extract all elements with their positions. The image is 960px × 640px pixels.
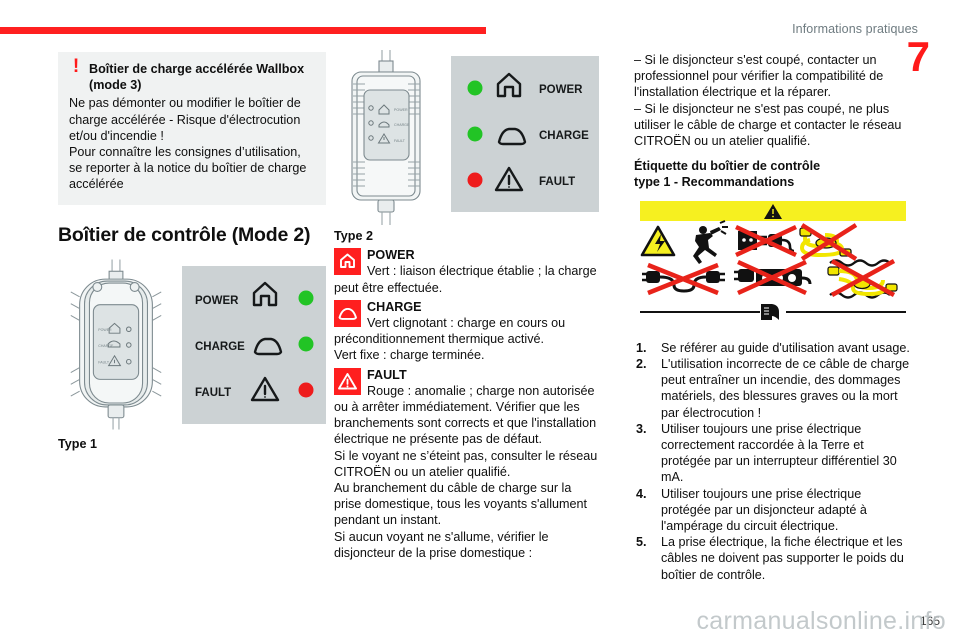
warning-title-line2: (mode 3): [89, 78, 141, 92]
figure-caption-type2: Type 2: [334, 228, 602, 244]
device-led-label-power: POWER: [394, 108, 408, 112]
figure-type1: POWER CHARGE FAULT POWER CHARGE FAULT: [58, 256, 326, 432]
device-led-label-fault: FAULT: [394, 139, 406, 143]
legend-label-fault: FAULT: [195, 387, 231, 399]
exclamation-icon: !: [69, 60, 83, 74]
led-item-power: POWER Vert : liaison électrique établie …: [334, 247, 602, 296]
device-led-label-charge: CHARGE: [98, 344, 114, 348]
led-dot-power: [299, 290, 314, 305]
led-item-title: POWER: [367, 248, 415, 262]
subheading-line2: type 1 - Recommandations: [634, 175, 794, 189]
column-middle: POWER CHARGE FAULT POWER CHARG: [334, 52, 602, 561]
led-dot-charge: [299, 336, 314, 351]
led-dot-power: [468, 81, 483, 96]
led-item-text: Vert clignotant : charge en cours ou pré…: [334, 316, 565, 362]
led-dot-fault: [468, 173, 483, 188]
warning-heading: ! Boîtier de charge accélérée Wallbox (m…: [69, 61, 315, 93]
list-item: Se référer au guide d'utilisation avant …: [634, 340, 912, 356]
led-item-title: FAULT: [367, 368, 407, 382]
car-icon: [499, 129, 525, 144]
led-item-text: Rouge : anomalie ; charge non autorisée …: [334, 384, 596, 447]
legend-label-power: POWER: [539, 84, 583, 96]
control-box-type1-illustration: POWER CHARGE FAULT: [58, 256, 174, 432]
bullet-breaker-tripped: – Si le disjoncteur s'est coupé, contact…: [634, 52, 912, 101]
legend-label-fault: FAULT: [539, 176, 575, 188]
control-box-type2-illustration: POWER CHARGE FAULT: [334, 50, 439, 226]
subheading-label-type1: Étiquette du boîtier de contrôle type 1 …: [634, 158, 912, 190]
header-red-rule: [0, 27, 486, 34]
list-item: Utiliser toujours une prise électrique p…: [634, 486, 912, 535]
figure-type2: POWER CHARGE FAULT POWER CHARG: [334, 50, 602, 226]
led-dot-charge: [468, 127, 483, 142]
led-legend-panel-type1: POWER CHARGE FAULT: [182, 266, 326, 424]
list-item: L'utilisation incorrecte de ce câble de …: [634, 356, 912, 421]
warning-title-line1: Boîtier de charge accélérée Wallbox: [89, 62, 304, 76]
column2-trailing-text: Si le voyant ne s’éteint pas, consulter …: [334, 448, 602, 561]
led-item-fault: FAULT Rouge : anomalie ; charge non auto…: [334, 367, 602, 448]
page-title: Informations pratiques: [792, 22, 918, 36]
warning-heading-text: Boîtier de charge accélérée Wallbox (mod…: [83, 61, 315, 93]
warning-box: ! Boîtier de charge accélérée Wallbox (m…: [58, 52, 326, 205]
warning-triangle-icon: [334, 368, 361, 395]
car-icon: [334, 300, 361, 327]
legend-label-charge: CHARGE: [195, 341, 245, 353]
house-icon: [498, 74, 520, 96]
device-led-label-power: POWER: [98, 328, 112, 332]
led-legend-panel-type2: POWER CHARGE FAULT: [451, 56, 599, 212]
figure-caption-type1: Type 1: [58, 436, 326, 452]
watermark: carmanualsonline.info: [696, 607, 946, 636]
bullet-breaker-not-tripped: – Si le disjoncteur ne s'est pas coupé, …: [634, 101, 912, 150]
led-item-title: CHARGE: [367, 300, 422, 314]
recommendations-list: Se référer au guide d'utilisation avant …: [634, 340, 912, 583]
section-title-controle: Boîtier de contrôle (Mode 2): [58, 224, 326, 246]
house-icon: [334, 248, 361, 275]
led-item-text: Vert : liaison électrique établie ; la c…: [334, 264, 597, 294]
column-left: ! Boîtier de charge accélérée Wallbox (m…: [58, 52, 326, 452]
warning-body: Ne pas démonter ou modifier le boîtier d…: [69, 95, 315, 192]
device-led-label-fault: FAULT: [98, 360, 110, 364]
warning-label-graphic: [634, 199, 912, 327]
led-item-charge: CHARGE Vert clignotant : charge en cours…: [334, 299, 602, 364]
device-led-label-charge: CHARGE: [394, 123, 410, 127]
led-dot-fault: [299, 382, 314, 397]
subheading-line1: Étiquette du boîtier de contrôle: [634, 159, 820, 173]
list-item: Utiliser toujours une prise électrique c…: [634, 421, 912, 486]
column-right: – Si le disjoncteur s'est coupé, contact…: [634, 52, 912, 583]
list-item: La prise électrique, la fiche électrique…: [634, 534, 912, 583]
house-icon: [254, 283, 276, 305]
legend-label-charge: CHARGE: [539, 130, 589, 142]
read-manual-icon: [761, 304, 779, 320]
legend-label-power: POWER: [195, 295, 239, 307]
car-icon: [255, 339, 281, 354]
